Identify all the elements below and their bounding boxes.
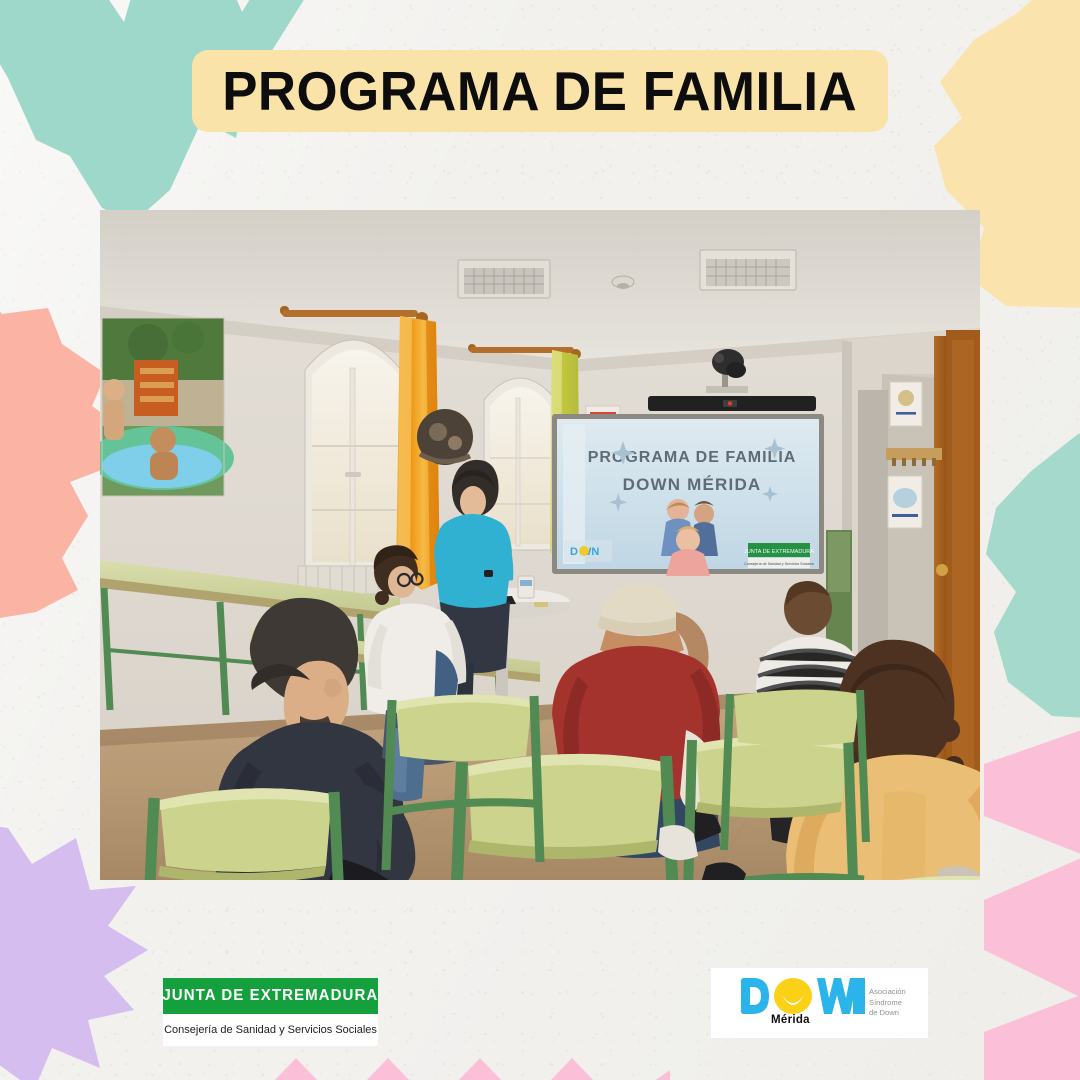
mint-blob-right-decoration (968, 420, 1080, 720)
page-title: PROGRAMA DE FAMILIA (223, 64, 858, 119)
down-tagline: Asociación Síndrome de Down (869, 987, 906, 1019)
down-merida-logo: Mérida Asociación Síndrome de Down (711, 968, 928, 1038)
down-city-label: Mérida (771, 1014, 810, 1026)
junta-logo-subtitle: Consejería de Sanidad y Servicios Social… (164, 1024, 377, 1036)
junta-subtitle-area: Consejería de Sanidad y Servicios Social… (163, 1014, 378, 1046)
poster-canvas: PROGRAMA DE FAMILIA (0, 0, 1080, 1080)
pink-zigzag-bottom-center-decoration (250, 1046, 670, 1080)
title-banner: PROGRAMA DE FAMILIA (192, 50, 888, 132)
down-wordmark: Mérida (737, 975, 865, 1031)
event-photo: PROGRAMA DE FAMILIA DOWN MÉRIDA (100, 210, 980, 880)
junta-logo-title: JUNTA DE EXTREMADURA (163, 987, 379, 1005)
junta-de-extremadura-logo: JUNTA DE EXTREMADURA Consejería de Sanid… (163, 978, 378, 1046)
junta-green-bar: JUNTA DE EXTREMADURA (163, 978, 378, 1014)
